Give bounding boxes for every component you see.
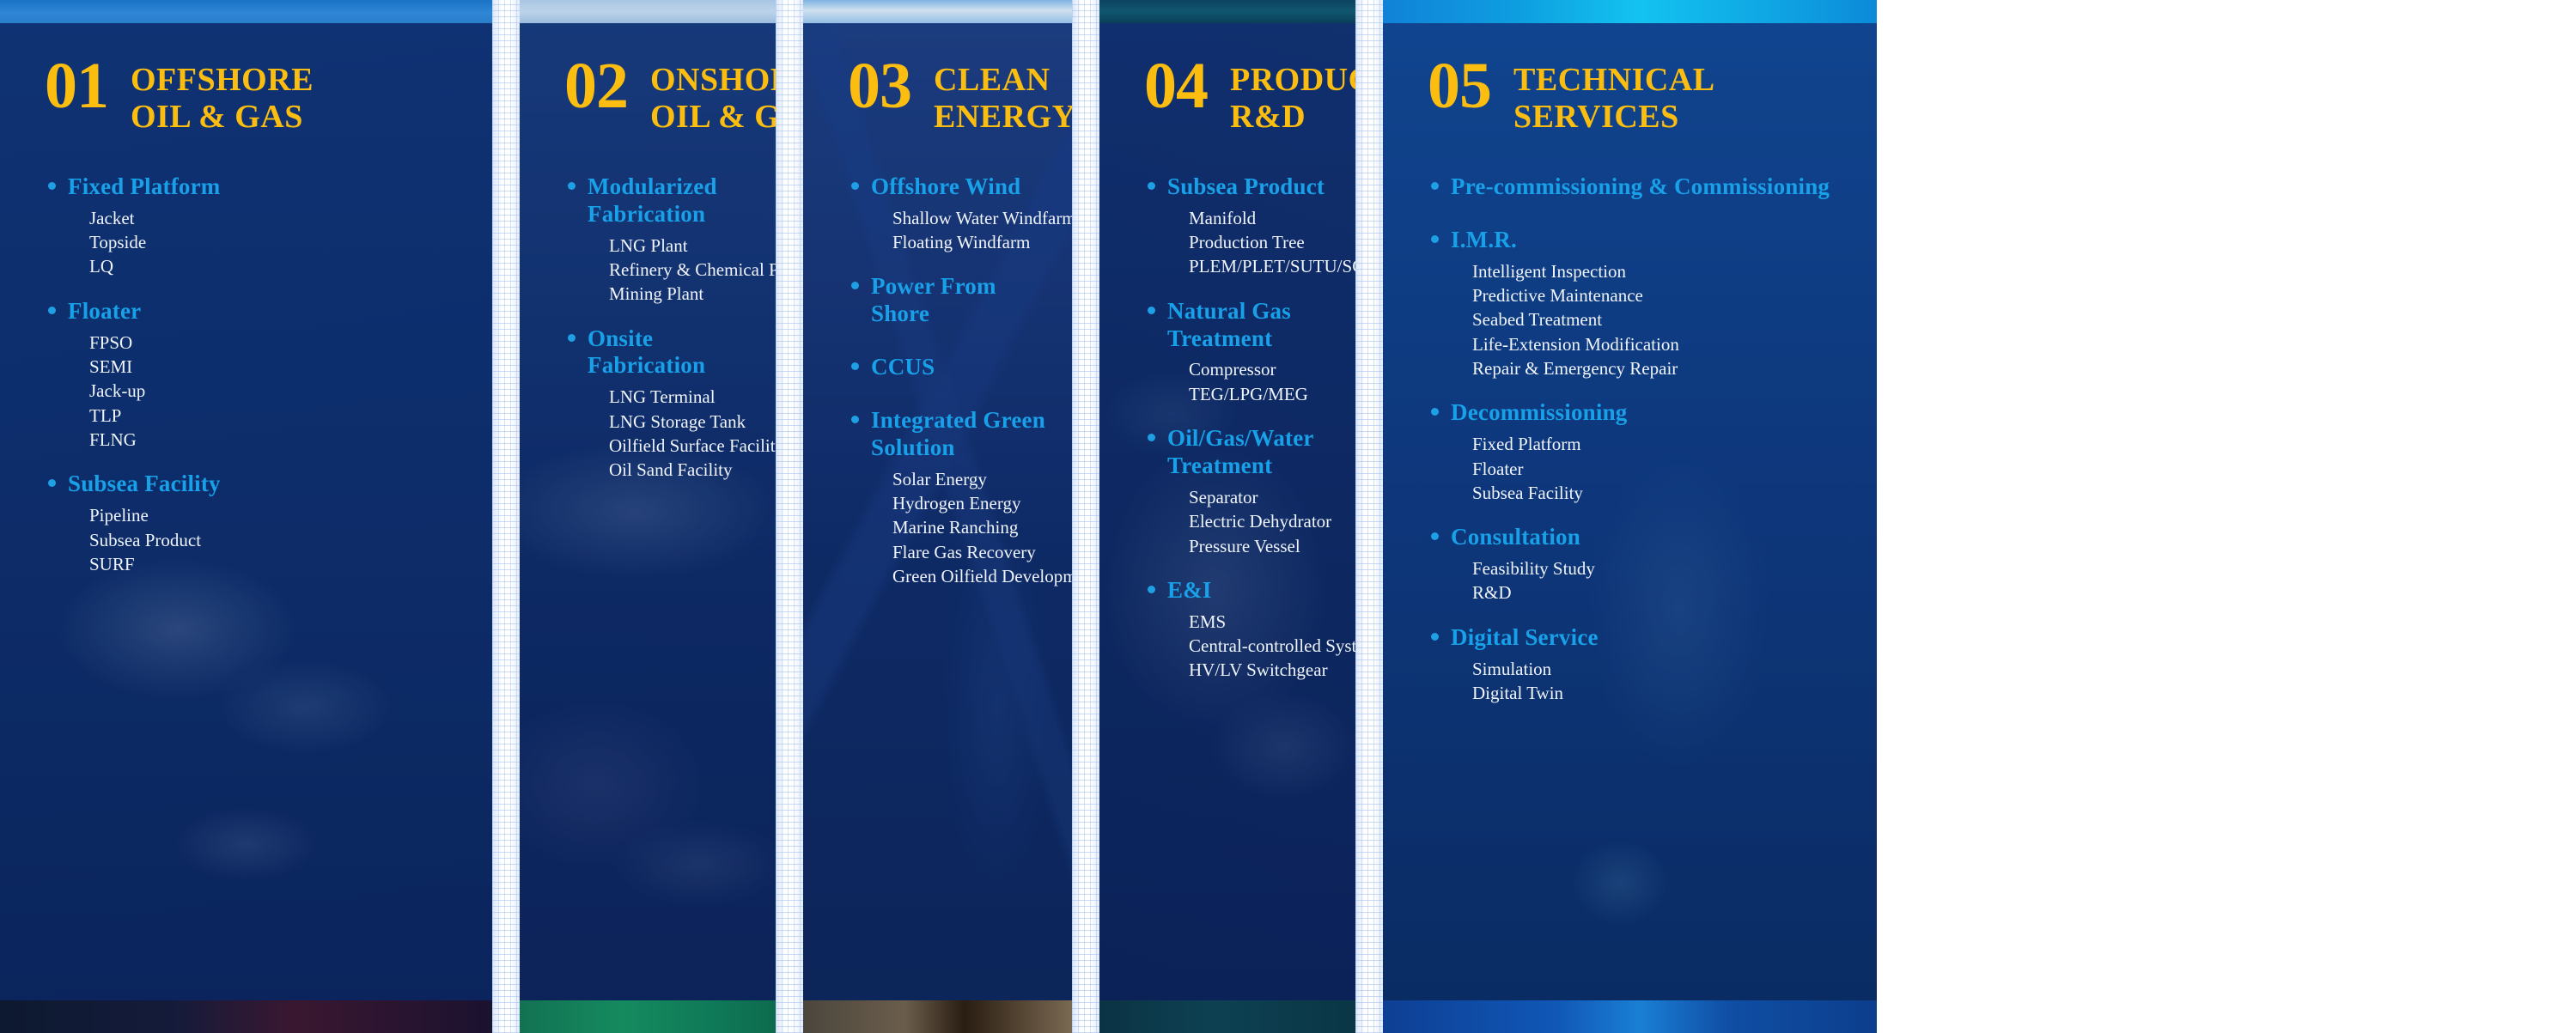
bullet-icon <box>1148 307 1155 314</box>
scope-group-label: Power From Shore <box>871 273 1051 328</box>
scope-item: LNG Storage Tank <box>609 410 755 434</box>
bullet-icon <box>1148 434 1155 441</box>
scope-group-label: Digital Service <box>1451 624 1599 652</box>
column-divider-2 <box>776 0 803 1033</box>
scope-group-header[interactable]: I.M.R. <box>1428 227 1856 254</box>
column-number: 03 <box>848 57 911 117</box>
column-title-line: R&D <box>1230 99 1355 136</box>
scope-item: Flare Gas Recovery <box>892 540 1051 564</box>
scope-item: Green Oilfield Development <box>892 564 1051 588</box>
column-groups-01: Fixed PlatformJacketTopsideLQFloaterFPSO… <box>21 136 472 576</box>
column-content-01: 01OFFSHOREOIL & GASFixed PlatformJacketT… <box>0 0 492 1033</box>
scope-group-items: LNG TerminalLNG Storage TankOilfield Sur… <box>564 385 755 482</box>
column-header-05: 05TECHNICALSERVICES <box>1404 0 1856 136</box>
scope-group[interactable]: Digital ServiceSimulationDigital Twin <box>1428 624 1856 706</box>
column-groups-05: Pre-commissioning & CommissioningI.M.R.I… <box>1404 136 1856 705</box>
scope-item: LNG Plant <box>609 234 755 258</box>
scope-column-01: 01OFFSHOREOIL & GASFixed PlatformJacketT… <box>0 0 492 1033</box>
scope-item: Fixed Platform <box>1472 432 1856 456</box>
scope-group[interactable]: I.M.R.Intelligent InspectionPredictive M… <box>1428 227 1856 381</box>
scope-item: EMS <box>1189 610 1335 634</box>
scope-group-items: SimulationDigital Twin <box>1428 657 1856 706</box>
column-title-line: ENERGY <box>934 99 1072 136</box>
scope-item: TEG/LPG/MEG <box>1189 382 1335 406</box>
bullet-icon <box>851 362 859 370</box>
scope-item: Oil Sand Facility <box>609 458 755 482</box>
scope-group-items: EMSCentral-controlled SystemHV/LV Switch… <box>1144 610 1335 683</box>
scope-item: PLEM/PLET/SUTU/SCM <box>1189 254 1335 278</box>
column-header-04: 04PRODUCTSR&D <box>1120 0 1335 136</box>
bullet-icon <box>851 416 859 423</box>
scope-group-header[interactable]: Modularized Fabrication <box>564 173 755 228</box>
column-header-03: 03CLEANENERGY <box>824 0 1051 136</box>
column-title: PRODUCTSR&D <box>1230 57 1355 136</box>
scope-item: Refinery & Chemical Plant <box>609 258 755 282</box>
scope-item: Repair & Emergency Repair <box>1472 356 1856 380</box>
column-title-line: SERVICES <box>1513 99 1715 136</box>
scope-group-label: Oil/Gas/Water Treatment <box>1167 425 1335 480</box>
scope-group-label: I.M.R. <box>1451 227 1517 254</box>
scope-group[interactable]: Oil/Gas/Water TreatmentSeparatorElectric… <box>1144 425 1335 558</box>
column-number: 01 <box>45 57 108 117</box>
scope-group-header[interactable]: Decommissioning <box>1428 399 1856 427</box>
scope-column-04: 04PRODUCTSR&DSubsea ProductManifoldProdu… <box>1099 0 1355 1033</box>
scope-item: Solar Energy <box>892 467 1051 491</box>
column-content-05: 05TECHNICALSERVICESPre-commissioning & C… <box>1383 0 1877 1033</box>
scope-group-header[interactable]: Consultation <box>1428 524 1856 551</box>
column-title-line: OIL & GAS <box>650 99 776 136</box>
scope-item: Simulation <box>1472 657 1856 681</box>
scope-group-items: JacketTopsideLQ <box>45 206 472 279</box>
bullet-icon <box>48 307 56 314</box>
scope-group[interactable]: Integrated Green SolutionSolar EnergyHyd… <box>848 407 1051 588</box>
column-divider-3 <box>1072 0 1099 1033</box>
scope-group-header[interactable]: Digital Service <box>1428 624 1856 652</box>
scope-group-header[interactable]: Power From Shore <box>848 273 1051 328</box>
scope-group[interactable]: CCUS <box>848 354 1051 381</box>
scope-group-items: FPSOSEMIJack-upTLPFLNG <box>45 331 472 453</box>
column-title: OFFSHOREOIL & GAS <box>131 57 314 136</box>
scope-item: Floater <box>1472 457 1856 481</box>
scope-item: LNG Terminal <box>609 385 755 409</box>
scope-group[interactable]: Pre-commissioning & Commissioning <box>1428 173 1856 201</box>
scope-item: Pressure Vessel <box>1189 534 1335 558</box>
scope-group[interactable]: Modularized FabricationLNG PlantRefinery… <box>564 173 755 307</box>
scope-group-items: Shallow Water WindfarmFloating Windfarm <box>848 206 1051 255</box>
column-title-line: CLEAN <box>934 62 1072 99</box>
scope-group-header[interactable]: Integrated Green Solution <box>848 407 1051 462</box>
scope-group[interactable]: Onsite FabricationLNG TerminalLNG Storag… <box>564 325 755 483</box>
scope-group[interactable]: Offshore WindShallow Water WindfarmFloat… <box>848 173 1051 255</box>
scope-item: Electric Dehydrator <box>1189 509 1335 533</box>
scope-group-header[interactable]: Fixed Platform <box>45 173 472 201</box>
scope-group-items: Feasibility StudyR&D <box>1428 556 1856 605</box>
scope-item: Compressor <box>1189 357 1335 381</box>
scope-group-label: Pre-commissioning & Commissioning <box>1451 173 1830 201</box>
scope-group-items: CompressorTEG/LPG/MEG <box>1144 357 1335 406</box>
scope-item: Predictive Maintenance <box>1472 283 1856 307</box>
column-title-line: TECHNICAL <box>1513 62 1715 99</box>
column-title: TECHNICALSERVICES <box>1513 57 1715 136</box>
scope-item: SURF <box>89 552 472 576</box>
scope-group[interactable]: ConsultationFeasibility StudyR&D <box>1428 524 1856 605</box>
scope-column-05: 05TECHNICALSERVICESPre-commissioning & C… <box>1383 0 1877 1033</box>
scope-item: Subsea Product <box>89 528 472 552</box>
bullet-icon <box>1431 235 1439 243</box>
scope-group-header[interactable]: E&I <box>1144 577 1335 605</box>
scope-item: Topside <box>89 230 472 254</box>
column-divider-1 <box>492 0 520 1033</box>
scope-group[interactable]: FloaterFPSOSEMIJack-upTLPFLNG <box>45 298 472 453</box>
scope-item: Shallow Water Windfarm <box>892 206 1051 230</box>
scope-group-header[interactable]: Floater <box>45 298 472 325</box>
business-scope-board: 01OFFSHOREOIL & GASFixed PlatformJacketT… <box>0 0 2576 1033</box>
scope-item: Mining Plant <box>609 282 755 306</box>
column-content-03: 03CLEANENERGYOffshore WindShallow Water … <box>803 0 1072 1033</box>
scope-group-header[interactable]: Offshore Wind <box>848 173 1051 201</box>
column-header-02: 02ONSHOREOIL & GAS <box>540 0 755 136</box>
scope-group-items: LNG PlantRefinery & Chemical PlantMining… <box>564 234 755 307</box>
scope-item: Digital Twin <box>1472 681 1856 705</box>
column-title-line: OIL & GAS <box>131 99 314 136</box>
column-divider-4 <box>1355 0 1383 1033</box>
scope-group[interactable]: Subsea FacilityPipelineSubsea ProductSUR… <box>45 471 472 576</box>
scope-group-label: Floater <box>68 298 141 325</box>
column-number: 02 <box>564 57 628 117</box>
column-groups-03: Offshore WindShallow Water WindfarmFloat… <box>824 136 1051 589</box>
scope-group-label: Onsite Fabrication <box>588 325 755 380</box>
scope-group-label: Consultation <box>1451 524 1580 551</box>
scope-group-label: Integrated Green Solution <box>871 407 1051 462</box>
bullet-icon <box>1431 532 1439 540</box>
scope-item: FPSO <box>89 331 472 355</box>
scope-group[interactable]: Fixed PlatformJacketTopsideLQ <box>45 173 472 279</box>
column-number: 05 <box>1428 57 1491 117</box>
scope-group-items: Intelligent InspectionPredictive Mainten… <box>1428 259 1856 381</box>
column-content-02: 02ONSHOREOIL & GASModularized Fabricatio… <box>520 0 776 1033</box>
scope-item: FLNG <box>89 428 472 452</box>
scope-column-02: 02ONSHOREOIL & GASModularized Fabricatio… <box>520 0 776 1033</box>
scope-item: Production Tree <box>1189 230 1335 254</box>
bullet-icon <box>1148 182 1155 190</box>
scope-item: Manifold <box>1189 206 1335 230</box>
scope-item: Separator <box>1189 485 1335 509</box>
scope-group-label: Subsea Facility <box>68 471 221 498</box>
scope-item: TLP <box>89 404 472 428</box>
scope-column-03: 03CLEANENERGYOffshore WindShallow Water … <box>803 0 1072 1033</box>
column-title-line: ONSHORE <box>650 62 776 99</box>
scope-item: HV/LV Switchgear <box>1189 658 1335 682</box>
column-content-04: 04PRODUCTSR&DSubsea ProductManifoldProdu… <box>1099 0 1355 1033</box>
scope-group-header[interactable]: Natural Gas Treatment <box>1144 298 1335 353</box>
scope-group-header[interactable]: Oil/Gas/Water Treatment <box>1144 425 1335 480</box>
bullet-icon <box>851 182 859 190</box>
column-groups-04: Subsea ProductManifoldProduction TreePLE… <box>1120 136 1335 683</box>
scope-item: Pipeline <box>89 503 472 527</box>
bullet-icon <box>1431 182 1439 190</box>
bullet-icon <box>48 182 56 190</box>
column-header-01: 01OFFSHOREOIL & GAS <box>21 0 472 136</box>
scope-item: R&D <box>1472 580 1856 605</box>
scope-item: LQ <box>89 254 472 278</box>
scope-group-label: Subsea Product <box>1167 173 1325 201</box>
bullet-icon <box>568 182 575 190</box>
scope-item: Hydrogen Energy <box>892 491 1051 515</box>
bullet-icon <box>1431 633 1439 641</box>
scope-group-label: CCUS <box>871 354 935 381</box>
column-title: CLEANENERGY <box>934 57 1072 136</box>
bullet-icon <box>851 282 859 289</box>
scope-group-label: Natural Gas Treatment <box>1167 298 1335 353</box>
bullet-icon <box>1431 408 1439 416</box>
scope-group[interactable]: E&IEMSCentral-controlled SystemHV/LV Swi… <box>1144 577 1335 683</box>
column-number: 04 <box>1144 57 1208 117</box>
scope-group-label: Fixed Platform <box>68 173 221 201</box>
scope-group-items: SeparatorElectric DehydratorPressure Ves… <box>1144 485 1335 558</box>
scope-group[interactable]: Natural Gas TreatmentCompressorTEG/LPG/M… <box>1144 298 1335 406</box>
scope-group-items: Fixed PlatformFloaterSubsea Facility <box>1428 432 1856 505</box>
scope-group-items: Solar EnergyHydrogen EnergyMarine Ranchi… <box>848 467 1051 589</box>
scope-group-items: ManifoldProduction TreePLEM/PLET/SUTU/SC… <box>1144 206 1335 279</box>
column-title: ONSHOREOIL & GAS <box>650 57 776 136</box>
bullet-icon <box>1148 586 1155 593</box>
bullet-icon <box>48 479 56 487</box>
scope-group-header[interactable]: Subsea Product <box>1144 173 1335 201</box>
scope-group-label: Modularized Fabrication <box>588 173 755 228</box>
column-title-line: OFFSHORE <box>131 62 314 99</box>
scope-group[interactable]: Subsea ProductManifoldProduction TreePLE… <box>1144 173 1335 279</box>
column-title-line: PRODUCTS <box>1230 62 1355 99</box>
scope-group-header[interactable]: CCUS <box>848 354 1051 381</box>
scope-item: SEMI <box>89 355 472 379</box>
scope-item: Jack-up <box>89 379 472 403</box>
scope-item: Marine Ranching <box>892 515 1051 539</box>
scope-group-label: Offshore Wind <box>871 173 1020 201</box>
scope-item: Floating Windfarm <box>892 230 1051 254</box>
scope-item: Subsea Facility <box>1472 481 1856 505</box>
scope-group-header[interactable]: Subsea Facility <box>45 471 472 498</box>
scope-item: Feasibility Study <box>1472 556 1856 580</box>
scope-item: Life-Extension Modification <box>1472 332 1856 356</box>
scope-group-header[interactable]: Pre-commissioning & Commissioning <box>1428 173 1856 201</box>
scope-group[interactable]: DecommissioningFixed PlatformFloaterSubs… <box>1428 399 1856 505</box>
scope-item: Oilfield Surface Facility <box>609 434 755 458</box>
scope-item: Central-controlled System <box>1189 634 1335 658</box>
scope-group-header[interactable]: Onsite Fabrication <box>564 325 755 380</box>
column-groups-02: Modularized FabricationLNG PlantRefinery… <box>540 136 755 483</box>
scope-group-label: Decommissioning <box>1451 399 1628 427</box>
scope-group-items: PipelineSubsea ProductSURF <box>45 503 472 576</box>
bullet-icon <box>568 334 575 342</box>
scope-group-label: E&I <box>1167 577 1212 605</box>
scope-item: Intelligent Inspection <box>1472 259 1856 283</box>
scope-item: Seabed Treatment <box>1472 307 1856 331</box>
scope-group[interactable]: Power From Shore <box>848 273 1051 328</box>
scope-item: Jacket <box>89 206 472 230</box>
